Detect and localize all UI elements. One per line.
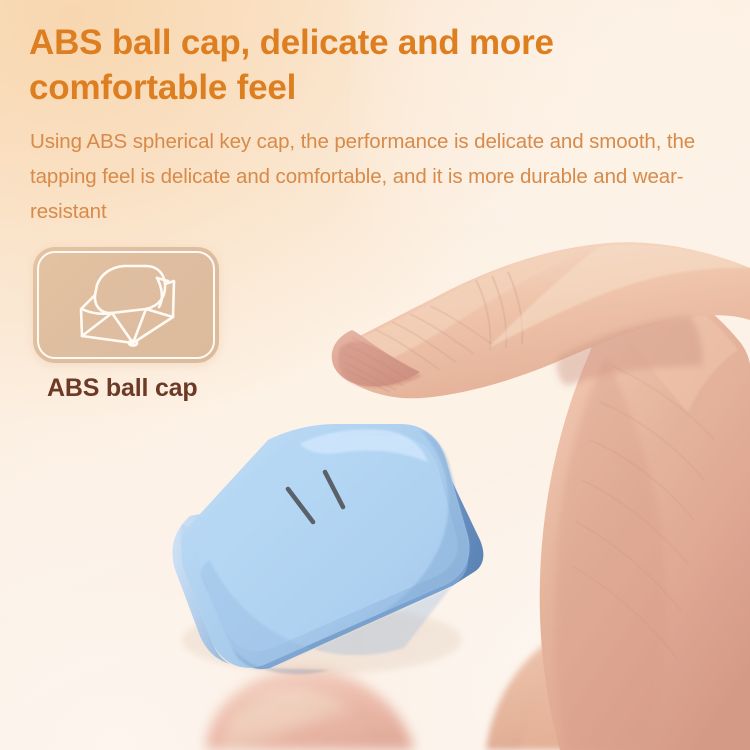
abs-ball-cap-feature-card <box>33 247 219 363</box>
blurred-thumb-bottom-left <box>206 669 414 750</box>
abs-ball-keycap-wireframe-icon <box>56 257 196 353</box>
product-feature-panel: ABS ball cap, delicate and more comforta… <box>0 0 750 750</box>
feature-card-caption: ABS ball cap <box>47 374 197 403</box>
page-title: ABS ball cap, delicate and more comforta… <box>29 20 689 110</box>
description-text: Using ABS spherical key cap, the perform… <box>30 124 700 229</box>
